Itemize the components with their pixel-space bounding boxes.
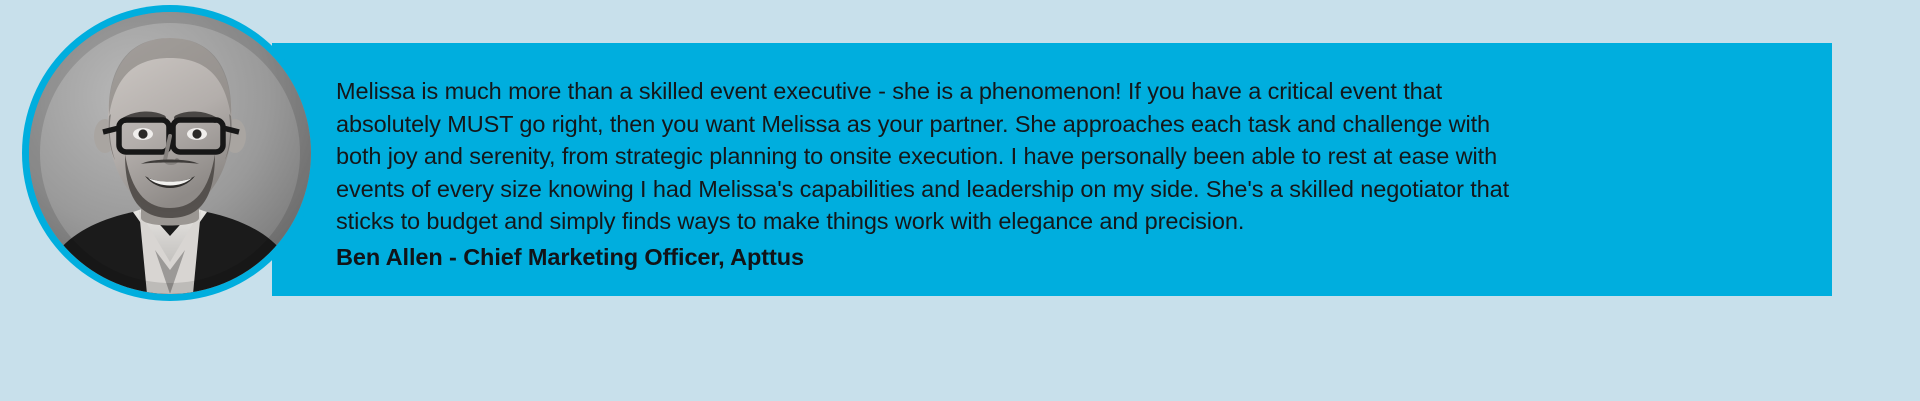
- portrait-image: [29, 12, 311, 294]
- testimonial-attribution: Ben Allen - Chief Marketing Officer, Apt…: [336, 238, 1792, 274]
- quote-panel-inner: Melissa is much more than a skilled even…: [336, 75, 1792, 274]
- avatar-photo: [29, 12, 311, 294]
- avatar: [22, 5, 318, 301]
- testimonial-banner: Melissa is much more than a skilled even…: [0, 0, 1920, 401]
- testimonial-quote-text: Melissa is much more than a skilled even…: [336, 75, 1521, 238]
- quote-panel: Melissa is much more than a skilled even…: [272, 43, 1832, 296]
